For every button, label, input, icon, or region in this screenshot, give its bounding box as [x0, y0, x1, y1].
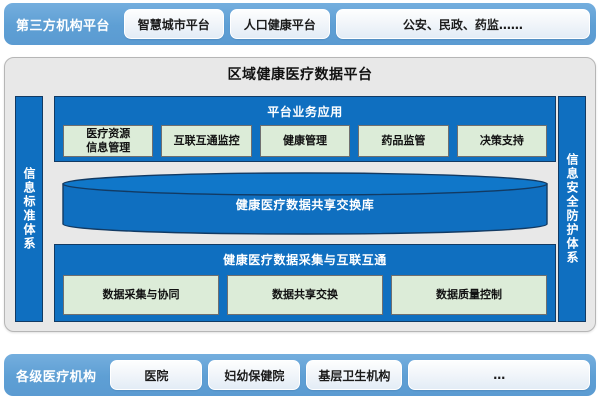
chip-more[interactable]: … — [408, 360, 590, 390]
cylinder-shape — [62, 172, 548, 236]
app-medical-resource-info[interactable]: 医疗资源 信息管理 — [63, 125, 153, 157]
app-decision-support[interactable]: 决策支持 — [457, 125, 547, 157]
pillar-left-label: 信息标准体系 — [23, 167, 35, 251]
chip-primary-health-institution[interactable]: 基层卫生机构 — [306, 360, 402, 390]
architecture-diagram: 第三方机构平台 智慧城市平台 人口健康平台 公安、民政、药监…… 区域健康医疗数… — [0, 0, 600, 400]
platform-title: 区域健康医疗数据平台 — [5, 64, 595, 84]
business-applications-row: 医疗资源 信息管理 互联互通监控 健康管理 药品监管 决策支持 — [63, 125, 547, 157]
chip-other-agencies[interactable]: 公安、民政、药监…… — [336, 9, 590, 39]
pillar-right-label: 信息安全防护体系 — [566, 153, 578, 265]
app-interconnection-monitor[interactable]: 互联互通监控 — [161, 125, 251, 157]
data-collection-title: 健康医疗数据采集与互联互通 — [55, 251, 555, 268]
app-health-management[interactable]: 健康管理 — [260, 125, 350, 157]
third-party-platform-title: 第三方机构平台 — [10, 15, 118, 34]
data-collection-row: 数据采集与协同 数据共享交换 数据质量控制 — [63, 275, 547, 315]
medical-institutions-title: 各级医疗机构 — [10, 366, 104, 385]
collect-acquisition-collaboration[interactable]: 数据采集与协同 — [63, 275, 219, 315]
regional-health-data-platform-panel: 区域健康医疗数据平台 信息标准体系 信息安全防护体系 平台业务应用 医疗资源 信… — [4, 57, 596, 332]
pillar-information-standard-system: 信息标准体系 — [15, 96, 43, 322]
chip-population-health[interactable]: 人口健康平台 — [230, 9, 330, 39]
platform-inner-column: 平台业务应用 医疗资源 信息管理 互联互通监控 健康管理 药品监管 决策支持 健… — [54, 96, 556, 322]
collect-quality-control[interactable]: 数据质量控制 — [391, 275, 547, 315]
medical-institutions-bar: 各级医疗机构 医院 妇幼保健院 基层卫生机构 … — [4, 354, 596, 396]
platform-business-applications-block: 平台业务应用 医疗资源 信息管理 互联互通监控 健康管理 药品监管 决策支持 — [54, 96, 556, 162]
business-applications-title: 平台业务应用 — [55, 103, 555, 120]
data-exchange-repository-cylinder: 健康医疗数据共享交换库 — [62, 172, 548, 236]
data-collection-interconnection-block: 健康医疗数据采集与互联互通 数据采集与协同 数据共享交换 数据质量控制 — [54, 244, 556, 322]
chip-hospital[interactable]: 医院 — [110, 360, 202, 390]
pillar-information-security-system: 信息安全防护体系 — [558, 96, 586, 322]
third-party-platform-bar: 第三方机构平台 智慧城市平台 人口健康平台 公安、民政、药监…… — [4, 3, 596, 45]
chip-smart-city[interactable]: 智慧城市平台 — [124, 9, 224, 39]
app-drug-supervision[interactable]: 药品监管 — [358, 125, 448, 157]
collect-share-exchange[interactable]: 数据共享交换 — [227, 275, 383, 315]
chip-maternal-child-hospital[interactable]: 妇幼保健院 — [208, 360, 300, 390]
